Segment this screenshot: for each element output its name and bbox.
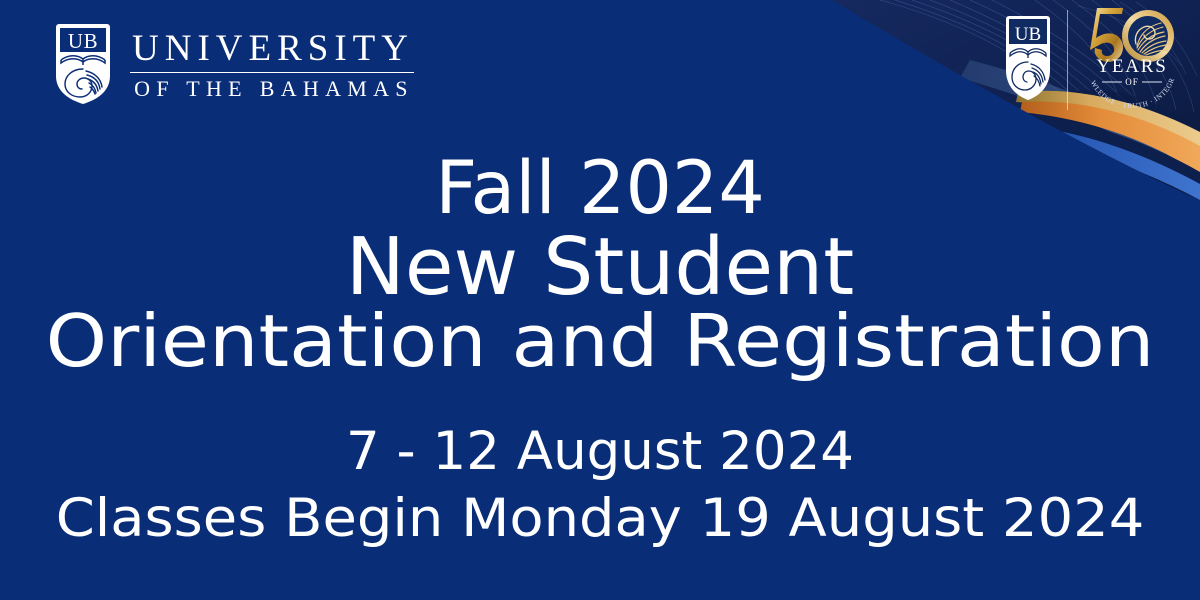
orientation-banner: UB UNIVERSITY OF THE BAHAMAS xyxy=(0,0,1200,600)
headline-audience: New Student xyxy=(0,228,1200,307)
banner-copy: Fall 2024 New Student Orientation and Re… xyxy=(0,0,1200,600)
classes-begin-date: Classes Begin Monday 19 August 2024 xyxy=(0,492,1200,545)
headline-event: Orientation and Registration xyxy=(0,305,1200,377)
orientation-dates: 7 - 12 August 2024 xyxy=(0,425,1200,478)
headline-term: Fall 2024 xyxy=(0,152,1200,225)
